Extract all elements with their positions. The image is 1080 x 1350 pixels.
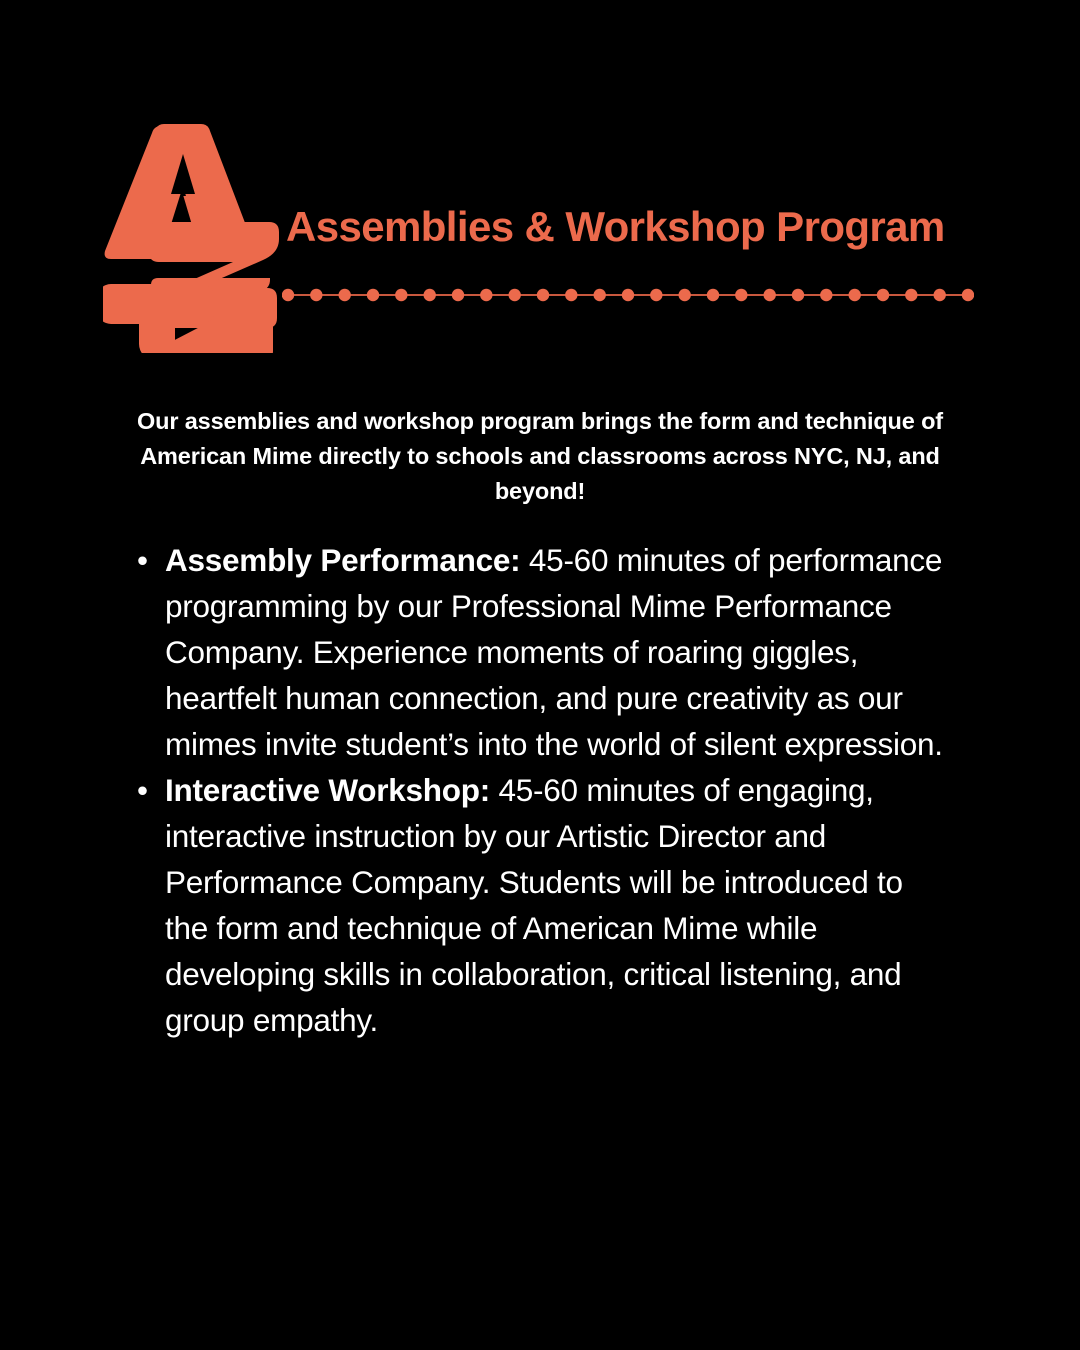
subtitle-text: Our assemblies and workshop program brin…	[120, 404, 960, 509]
list-item: • Assembly Performance: 45-60 minutes of…	[118, 537, 948, 767]
list-item: • Interactive Workshop: 45-60 minutes of…	[118, 767, 948, 1043]
amt-logo-icon	[103, 118, 283, 353]
header: Assemblies & Workshop Program	[0, 0, 1080, 370]
program-bullet-list: • Assembly Performance: 45-60 minutes of…	[118, 537, 948, 1043]
dotted-divider	[282, 286, 974, 304]
bullet-marker: •	[137, 537, 149, 583]
list-item-body: 45-60 minutes of engaging, interactive i…	[165, 772, 903, 1038]
poster-canvas: Assemblies & Workshop Program	[0, 0, 1080, 1350]
page-title: Assemblies & Workshop Program	[286, 206, 945, 248]
bullet-marker: •	[137, 767, 149, 813]
list-item-lead: Assembly Performance:	[165, 542, 520, 578]
list-item-lead: Interactive Workshop:	[165, 772, 490, 808]
